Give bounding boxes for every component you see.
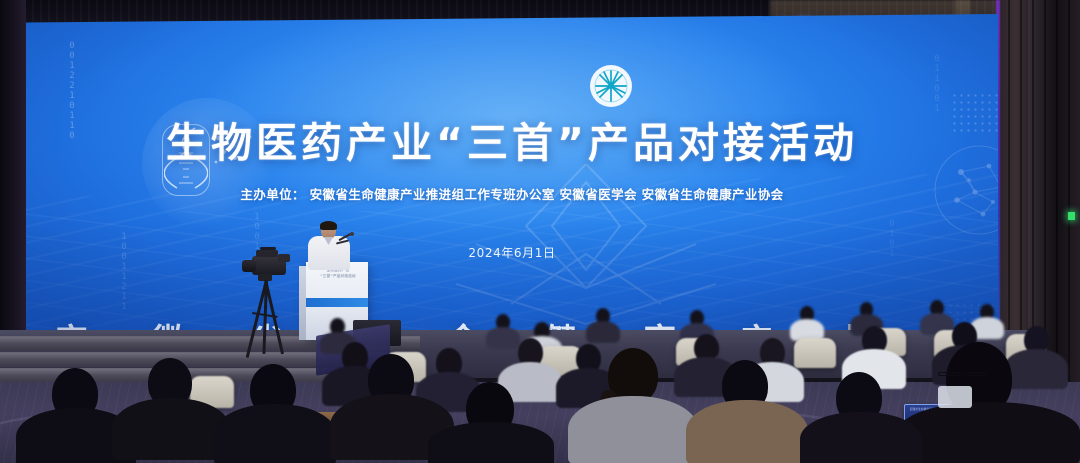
speaker-hair xyxy=(320,221,337,230)
audience-shoulders xyxy=(800,412,922,463)
audience-shoulders xyxy=(486,327,520,349)
camera-viewfinder xyxy=(278,254,290,262)
audience-shoulders xyxy=(1004,349,1068,389)
eyeglasses-icon xyxy=(964,372,986,376)
audience-shoulders xyxy=(586,321,620,343)
audience-shoulders xyxy=(214,404,336,463)
audience-shoulders xyxy=(898,402,1080,463)
camera-handle xyxy=(260,247,276,250)
conference-hall-scene: ◉ 0012210110 10011211 100112 011001 0101 xyxy=(0,0,1080,463)
eyeglasses-icon xyxy=(938,372,962,376)
camera-top-hood xyxy=(256,250,278,257)
equipment-status-led xyxy=(1068,212,1075,220)
audience-shoulders xyxy=(568,396,698,463)
podium-signage-line2: “三首”产品对接活动 xyxy=(310,273,366,279)
chair xyxy=(794,338,836,368)
microphone-head-icon xyxy=(350,232,354,236)
audience-shoulders xyxy=(112,398,230,460)
camera-lens-icon xyxy=(242,260,256,272)
audience-shoulders xyxy=(686,400,808,463)
audience-area: 安徽省生命健康产业“三首”产品对接活动 谢栋栋 xyxy=(0,286,1080,463)
audience-shoulders xyxy=(428,422,554,463)
face-mask-icon xyxy=(938,386,972,408)
